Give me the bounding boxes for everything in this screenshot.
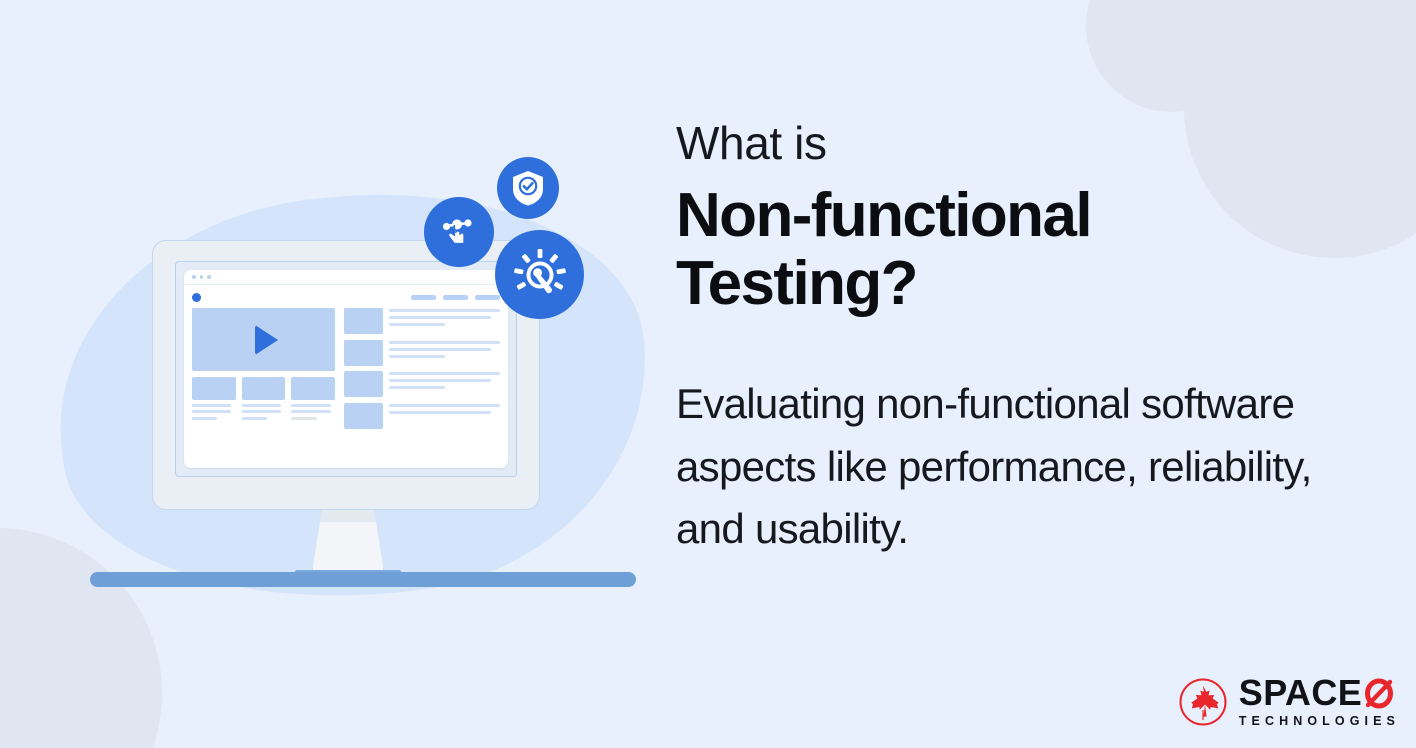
card-text-line bbox=[242, 404, 281, 407]
monitor bbox=[152, 240, 544, 590]
nav-pill bbox=[443, 295, 468, 300]
monitor-stand bbox=[312, 508, 384, 572]
text-content: What is Non-functionalTesting? Evaluatin… bbox=[676, 0, 1416, 748]
brand-logo: SPACE TECHNOLOGIES bbox=[1178, 675, 1400, 728]
card-thumbnail bbox=[291, 377, 335, 400]
list-item-text bbox=[389, 340, 500, 362]
card-text-line bbox=[291, 404, 330, 407]
nav-pill-group bbox=[411, 295, 500, 300]
monitor-illustration bbox=[0, 0, 670, 748]
list-item bbox=[344, 403, 500, 429]
card-text-line bbox=[242, 410, 281, 413]
monitor-screen bbox=[175, 261, 517, 477]
card-thumbnail bbox=[192, 377, 236, 400]
usability-touch-icon bbox=[424, 197, 494, 267]
card-text-line bbox=[192, 404, 231, 407]
card-item bbox=[291, 377, 335, 420]
window-dot-minimize-icon bbox=[200, 275, 204, 279]
performance-gauge-icon bbox=[495, 230, 584, 319]
card-text-line bbox=[192, 417, 217, 420]
card-item bbox=[242, 377, 286, 420]
logo-wordmark: SPACE TECHNOLOGIES bbox=[1239, 675, 1400, 728]
list-item-thumbnail bbox=[344, 340, 383, 366]
browser-columns bbox=[192, 308, 500, 429]
browser-titlebar bbox=[184, 270, 508, 285]
avatar bbox=[192, 293, 201, 302]
browser-window-mockup bbox=[184, 270, 508, 468]
list-item-thumbnail bbox=[344, 403, 383, 429]
maple-leaf-icon bbox=[1178, 677, 1228, 727]
card-text-line bbox=[291, 410, 330, 413]
list-text-line bbox=[389, 386, 445, 389]
list-item bbox=[344, 308, 500, 334]
logo-tagline: TECHNOLOGIES bbox=[1239, 714, 1400, 728]
card-text-line bbox=[242, 417, 267, 420]
list-item-thumbnail bbox=[344, 371, 383, 397]
list-text-line bbox=[389, 379, 491, 382]
floor-bar bbox=[90, 572, 636, 587]
browser-side-list bbox=[344, 308, 500, 429]
list-item bbox=[344, 371, 500, 397]
browser-main-column bbox=[192, 308, 335, 429]
window-dot-maximize-icon bbox=[207, 275, 211, 279]
page-title: Non-functionalTesting? bbox=[676, 182, 1336, 317]
description-text: Evaluating non-functional software aspec… bbox=[676, 373, 1326, 561]
logo-word-space: SPACE bbox=[1239, 675, 1362, 711]
security-shield-icon bbox=[497, 157, 559, 219]
list-text-line bbox=[389, 309, 500, 312]
list-text-line bbox=[389, 355, 445, 358]
list-text-line bbox=[389, 341, 500, 344]
browser-content bbox=[184, 286, 508, 468]
list-text-line bbox=[389, 316, 491, 319]
list-text-line bbox=[389, 404, 500, 407]
window-dot-close-icon bbox=[192, 275, 196, 279]
nav-pill bbox=[475, 295, 500, 300]
list-item bbox=[344, 340, 500, 366]
list-text-line bbox=[389, 372, 500, 375]
play-button-icon bbox=[255, 325, 278, 355]
card-thumbnail bbox=[242, 377, 286, 400]
monitor-body bbox=[152, 240, 540, 510]
list-text-line bbox=[389, 411, 491, 414]
list-item-text bbox=[389, 403, 500, 418]
list-item-text bbox=[389, 308, 500, 330]
eyebrow-text: What is bbox=[676, 116, 827, 170]
list-text-line bbox=[389, 323, 445, 326]
video-hero-placeholder bbox=[192, 308, 335, 371]
browser-header-row bbox=[192, 293, 500, 302]
card-grid bbox=[192, 377, 335, 420]
card-item bbox=[192, 377, 236, 420]
logo-slashed-o-icon bbox=[1364, 677, 1394, 709]
card-text-line bbox=[192, 410, 231, 413]
headline-line-1: Non-functional bbox=[676, 181, 1091, 250]
list-item-thumbnail bbox=[344, 308, 383, 334]
card-text-line bbox=[291, 417, 316, 420]
nav-pill bbox=[411, 295, 436, 300]
logo-word-row: SPACE bbox=[1239, 675, 1400, 711]
headline-line-2: Testing? bbox=[676, 249, 917, 318]
list-item-text bbox=[389, 371, 500, 393]
list-text-line bbox=[389, 348, 491, 351]
